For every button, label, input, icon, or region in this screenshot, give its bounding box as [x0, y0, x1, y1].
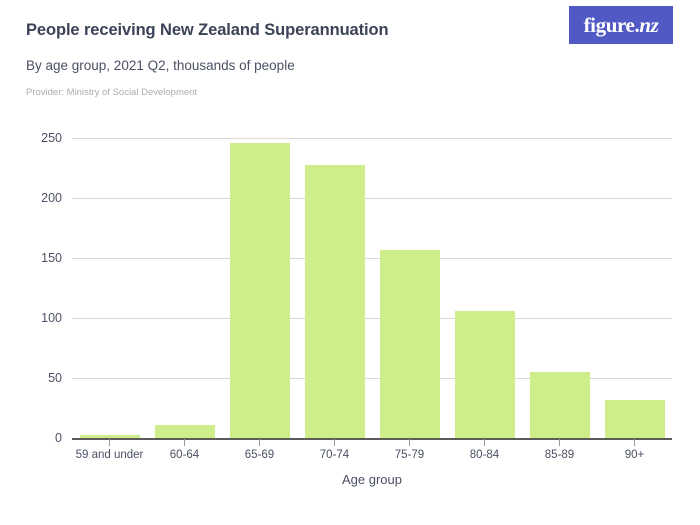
x-tick-label: 70-74 — [320, 449, 349, 461]
logo-main-text: figure. — [584, 13, 640, 37]
x-tick-mark — [109, 439, 111, 446]
bar[interactable] — [380, 250, 440, 438]
chart-provider-label: Provider: Ministry of Social Development — [26, 87, 197, 98]
x-tick-mark — [184, 439, 186, 446]
x-tick-label: 75-79 — [395, 449, 424, 461]
x-tick-mark — [559, 439, 561, 446]
x-tick-mark — [409, 439, 411, 446]
x-tick-mark — [634, 439, 636, 446]
bar[interactable] — [230, 143, 290, 438]
bar[interactable] — [605, 400, 665, 438]
y-tick-label: 0 — [22, 431, 62, 445]
x-tick-label: 60-64 — [170, 449, 199, 461]
y-tick-label: 200 — [22, 191, 62, 205]
logo-accent-text: nz — [639, 13, 658, 37]
figure-nz-logo[interactable]: figure.nz — [569, 6, 673, 44]
chart-subtitle: By age group, 2021 Q2, thousands of peop… — [26, 58, 295, 73]
page-title: People receiving New Zealand Superannuat… — [26, 21, 388, 40]
y-tick-label: 50 — [22, 371, 62, 385]
bar[interactable] — [155, 425, 215, 438]
x-tick-mark — [259, 439, 261, 446]
bar[interactable] — [455, 311, 515, 438]
y-axis: 050100150200250 — [14, 138, 62, 438]
x-tick-label: 59 and under — [76, 449, 144, 461]
x-tick-label: 80-84 — [470, 449, 499, 461]
x-tick-label: 90+ — [625, 449, 645, 461]
x-tick-mark — [334, 439, 336, 446]
x-tick-label: 65-69 — [245, 449, 274, 461]
bar[interactable] — [530, 372, 590, 438]
chart-header: People receiving New Zealand Superannuat… — [0, 0, 700, 120]
bar[interactable] — [305, 165, 365, 438]
logo-text: figure.nz — [584, 15, 659, 36]
x-tick-label: 85-89 — [545, 449, 574, 461]
bar-series — [72, 138, 672, 438]
y-tick-label: 100 — [22, 311, 62, 325]
x-axis-title: Age group — [72, 472, 672, 487]
y-tick-label: 150 — [22, 251, 62, 265]
y-tick-label: 250 — [22, 131, 62, 145]
x-tick-mark — [484, 439, 486, 446]
